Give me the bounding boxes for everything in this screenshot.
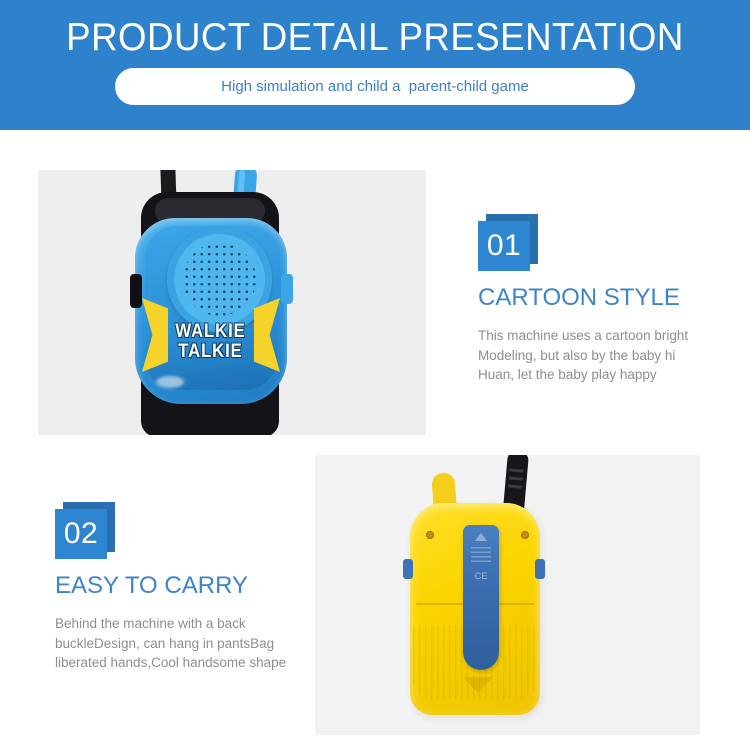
feature-title-01: CARTOON STYLE (478, 284, 708, 312)
bottom-triangle-icon (463, 677, 493, 693)
badge-number: 02 (64, 519, 98, 549)
screw-right-icon (521, 531, 529, 539)
badge-front-square: 01 (478, 221, 530, 271)
subtitle-text: High simulation and child a parent-child… (221, 78, 529, 96)
feature-body-02: Behind the machine with a back buckleDes… (55, 614, 295, 673)
device-side-button-left (403, 559, 413, 579)
feature-block-01: 01 CARTOON STYLE This machine uses a car… (478, 214, 708, 385)
screw-left-icon (426, 531, 434, 539)
badge-front-square: 02 (55, 509, 107, 559)
feature-title-02: EASY TO CARRY (55, 572, 295, 600)
feature-number-badge-01: 01 (478, 214, 540, 272)
feature-number-badge-02: 02 (55, 502, 117, 560)
product-photo-yellow-walkie-talkie: CE (315, 455, 700, 735)
badge-number: 01 (487, 231, 521, 261)
belt-clip: CE (463, 525, 499, 670)
feature-block-02: 02 EASY TO CARRY Behind the machine with… (55, 502, 295, 673)
device-side-button-left (130, 274, 142, 308)
speaker-grille-dots (183, 243, 256, 316)
clip-triangle-icon (475, 533, 487, 541)
clip-ce-mark: CE (469, 571, 493, 581)
product-photo-blue-walkie-talkie: WALKIE TALKIE (38, 170, 426, 435)
device-side-button-right (281, 274, 293, 304)
device-side-button-right (535, 559, 545, 579)
page-header-banner: PRODUCT DETAIL PRESENTATION High simulat… (0, 0, 750, 130)
subtitle-pill: High simulation and child a parent-child… (115, 68, 635, 105)
clip-grip-lines (471, 547, 491, 563)
page-title: PRODUCT DETAIL PRESENTATION (23, 16, 728, 60)
gloss-highlight (156, 376, 184, 388)
feature-body-01: This machine uses a cartoon bright Model… (478, 326, 708, 385)
device-brand-label: WALKIE TALKIE (156, 322, 266, 362)
